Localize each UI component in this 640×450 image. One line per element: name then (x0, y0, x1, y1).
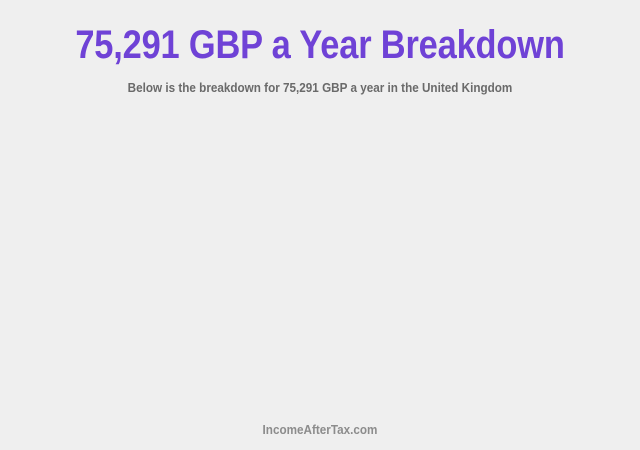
footer-brand-label: IncomeAfterTax.com (32, 422, 608, 438)
page-footer: IncomeAfterTax.com (0, 422, 640, 450)
breakdown-content-area (0, 96, 640, 422)
page-title: 75,291 GBP a Year Breakdown (45, 22, 595, 68)
page-subtitle: Below is the breakdown for 75,291 GBP a … (32, 68, 608, 96)
income-breakdown-page: 75,291 GBP a Year Breakdown Below is the… (0, 0, 640, 450)
page-header: 75,291 GBP a Year Breakdown Below is the… (0, 0, 640, 96)
